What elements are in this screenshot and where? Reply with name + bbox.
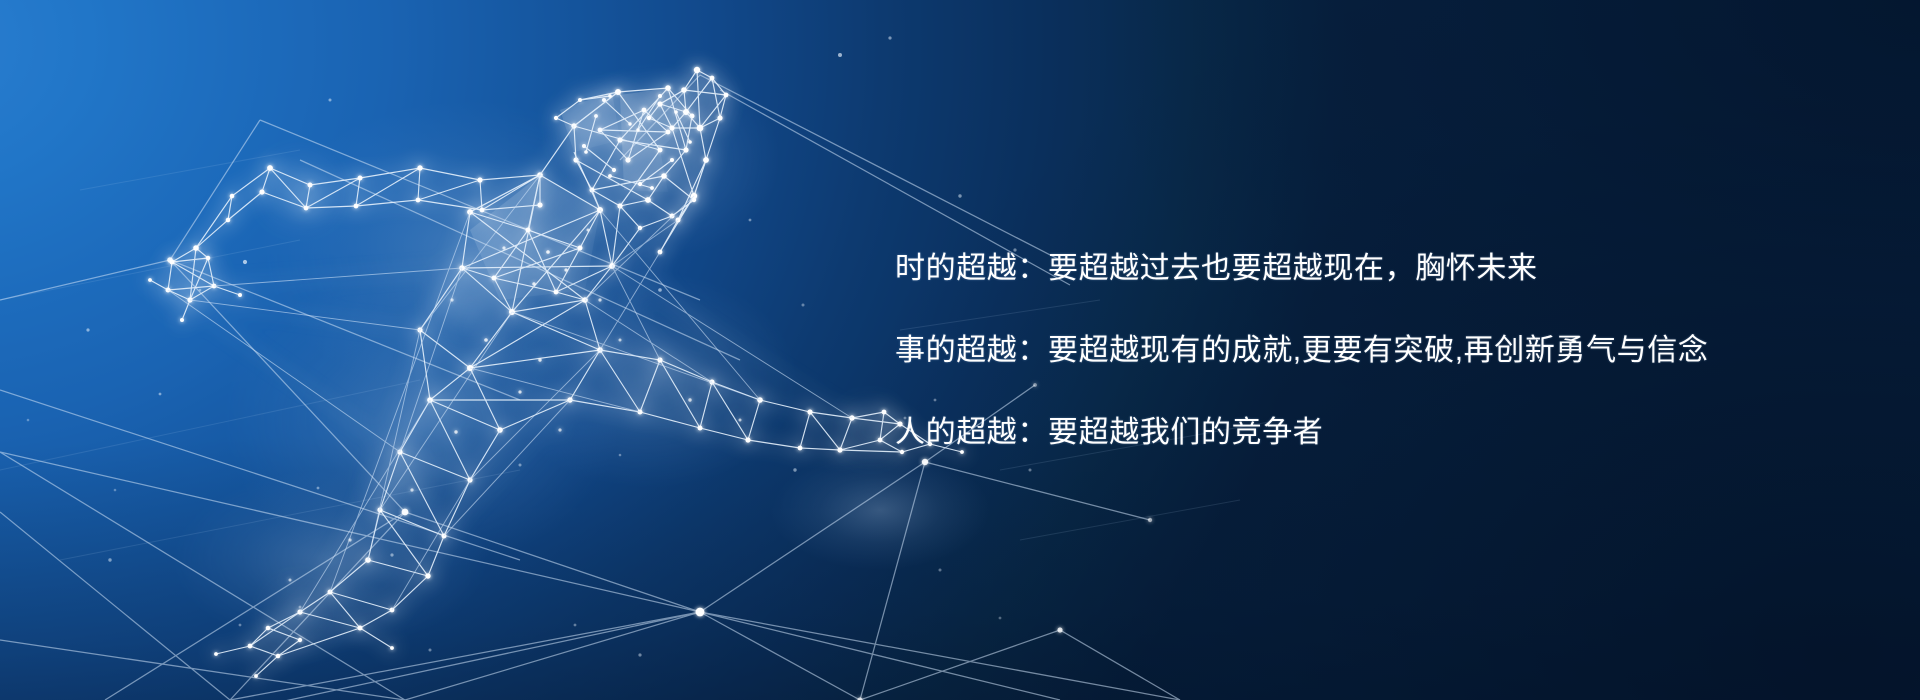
hero-banner: 时的超越：要超越过去也要超越现在，胸怀未来 事的超越：要超越现有的成就,更要有突… bbox=[0, 0, 1920, 700]
slogan-text-block: 时的超越：要超越过去也要超越现在，胸怀未来 事的超越：要超越现有的成就,更要有突… bbox=[895, 228, 1875, 474]
slogan-line-time: 时的超越：要超越过去也要超越现在，胸怀未来 bbox=[895, 228, 1875, 310]
slogan-line-matter: 事的超越：要超越现有的成就,更要有突破,再创新勇气与信念 bbox=[895, 310, 1875, 392]
slogan-line-people: 人的超越：要超越我们的竞争者 bbox=[895, 392, 1875, 474]
